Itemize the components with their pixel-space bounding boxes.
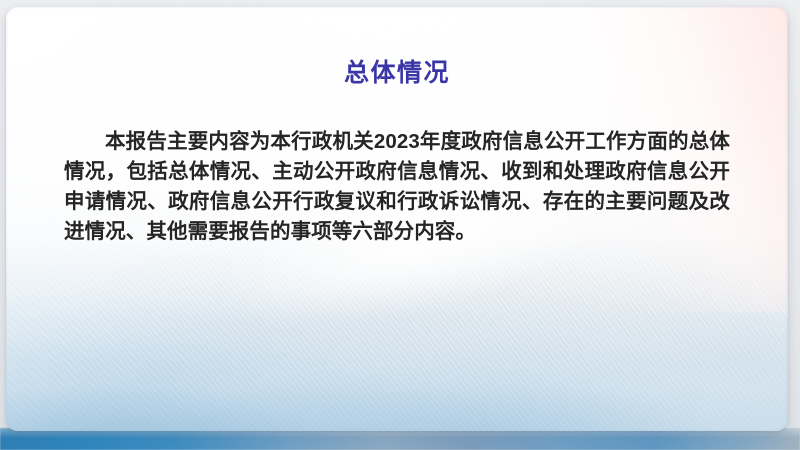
slide-body-paragraph: 本报告主要内容为本行政机关2023年度政府信息公开工作方面的总体情况，包括总体情… xyxy=(64,127,730,247)
slide-content: 总体情况 本报告主要内容为本行政机关2023年度政府信息公开工作方面的总体情况，… xyxy=(6,7,788,431)
slide-card: 总体情况 本报告主要内容为本行政机关2023年度政府信息公开工作方面的总体情况，… xyxy=(6,7,788,431)
slide-title: 总体情况 xyxy=(6,53,788,89)
bottom-accent-band xyxy=(0,428,800,450)
slide-stage: 总体情况 本报告主要内容为本行政机关2023年度政府信息公开工作方面的总体情况，… xyxy=(0,0,800,450)
